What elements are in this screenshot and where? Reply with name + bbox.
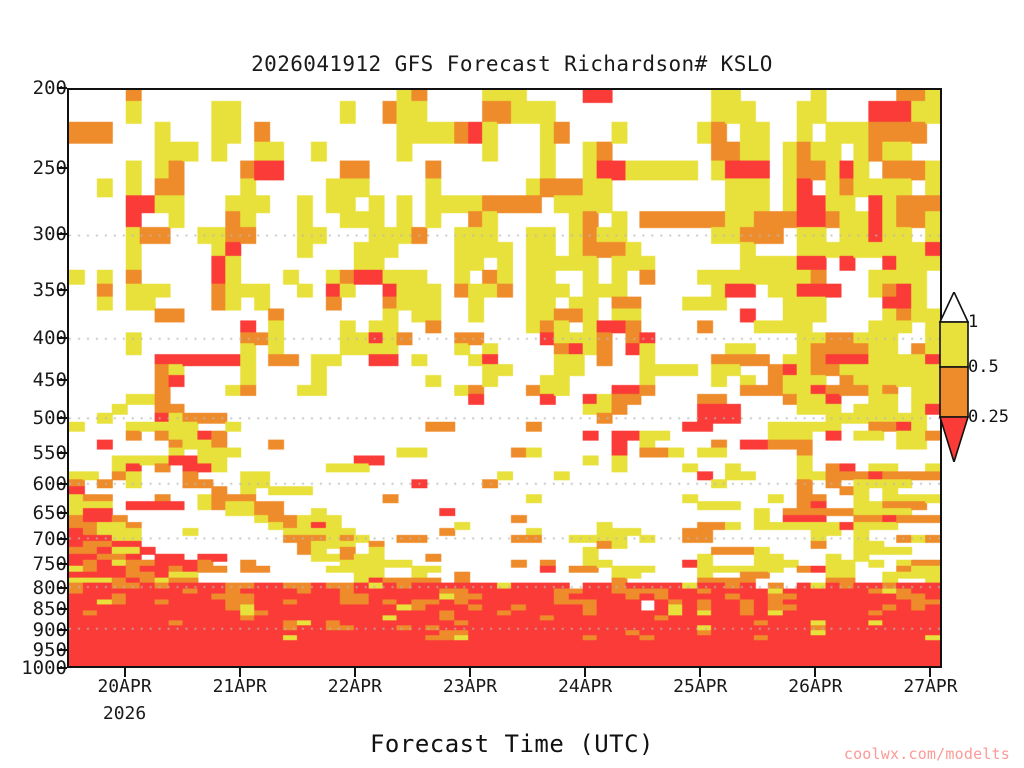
y-tick-mark [57, 87, 67, 89]
x-tick-mark [699, 668, 701, 677]
y-tick-mark [57, 667, 67, 669]
heatmap-canvas [69, 90, 940, 666]
x-tick-label: 22APR [328, 676, 382, 697]
y-axis: 2002503003504004505005506006507007508008… [0, 0, 67, 768]
x-tick-label: 23APR [443, 676, 497, 697]
y-tick-mark [57, 483, 67, 485]
x-tick-mark [929, 668, 931, 677]
x-tick-mark [814, 668, 816, 677]
x-tick-mark [124, 668, 126, 677]
x-tick-label: 21APR [213, 676, 267, 697]
colorbar-bin-orange [940, 367, 968, 417]
x-tick-label: 24APR [558, 676, 612, 697]
y-tick-mark [57, 452, 67, 454]
y-tick-mark [57, 538, 67, 540]
watermark: coolwx.com/modelts [844, 745, 1010, 763]
x-tick-label: 27APR [903, 676, 957, 697]
colorbar-tick-label: 1 [968, 312, 978, 332]
plot-area [67, 88, 942, 668]
richardson-number-chart: 2026041912 GFS Forecast Richardson# KSLO… [0, 0, 1024, 768]
y-tick-mark [57, 167, 67, 169]
y-tick-mark [57, 289, 67, 291]
y-tick-mark [57, 417, 67, 419]
x-tick-mark [354, 668, 356, 677]
y-tick-mark [57, 379, 67, 381]
x-tick-label: 20APR [97, 676, 151, 697]
y-tick-mark [57, 337, 67, 339]
y-tick-mark [57, 649, 67, 651]
x-axis-year-label: 2026 [103, 703, 146, 724]
colorbar-arrow-top [940, 292, 968, 322]
x-tick-label: 25APR [673, 676, 727, 697]
colorbar-bin-yellow [940, 322, 968, 367]
x-tick-mark [469, 668, 471, 677]
y-tick-mark [57, 587, 67, 589]
y-tick-mark [57, 608, 67, 610]
y-tick-mark [57, 233, 67, 235]
x-tick-mark [239, 668, 241, 677]
x-tick-label: 26APR [788, 676, 842, 697]
y-tick-mark [57, 563, 67, 565]
y-tick-mark [57, 629, 67, 631]
x-tick-mark [584, 668, 586, 677]
colorbar-legend [938, 292, 970, 462]
y-tick-mark [57, 512, 67, 514]
colorbar-arrow-bottom [940, 417, 968, 462]
colorbar-tick-label: 0.5 [968, 357, 999, 377]
colorbar-tick-label: 0.25 [968, 407, 1009, 427]
page-title: 2026041912 GFS Forecast Richardson# KSLO [0, 52, 1024, 76]
